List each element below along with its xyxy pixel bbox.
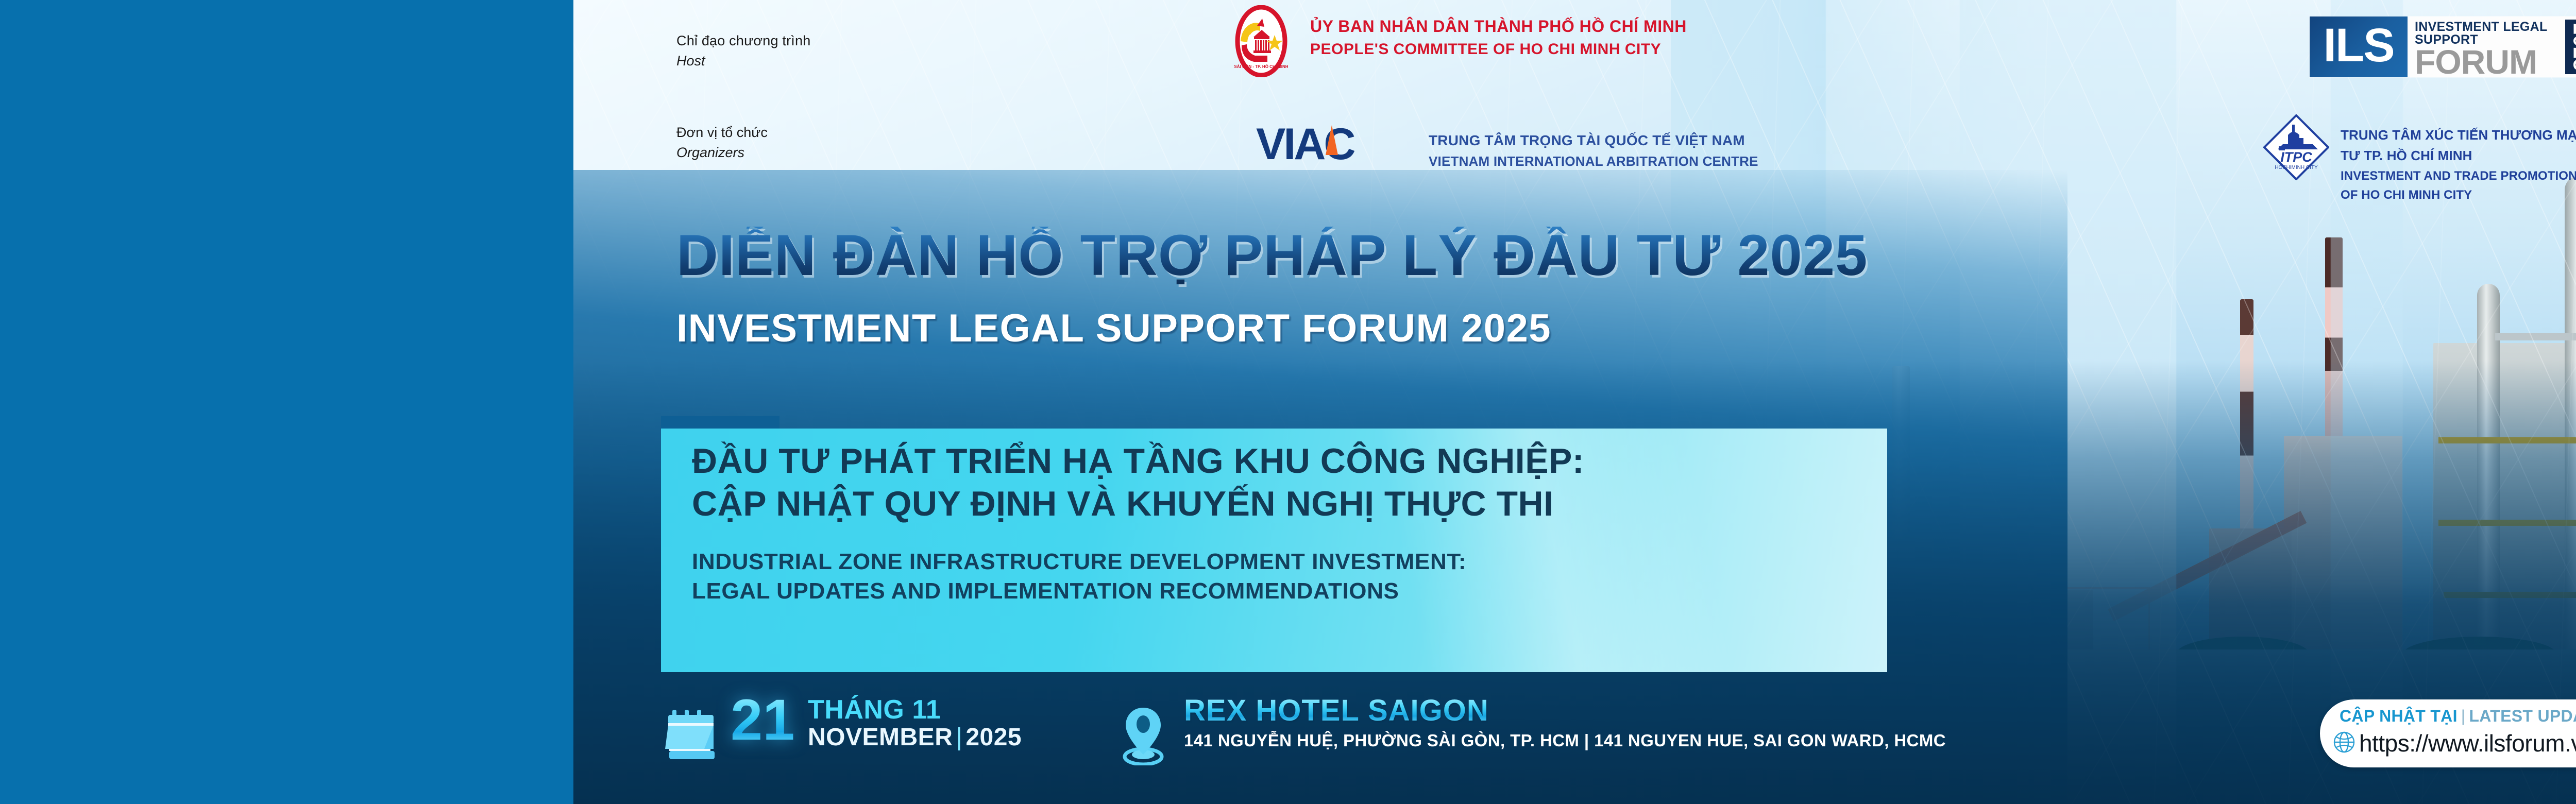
theme-accent-bar [661,416,779,430]
event-month-en: NOVEMBER [808,724,953,751]
updates-label-vn: CẬP NHẬT TẠI [2340,707,2458,725]
venue-name: REX HOTEL SAIGON [1184,694,1946,727]
ils-words: INVESTMENT LEGAL SUPPORT FORUM [2408,16,2565,77]
refinery-pipe-1 [2495,333,2576,340]
event-month-vn: THÁNG 11 [808,695,1022,724]
event-date-separator: | [953,724,965,751]
host-label-en: Host [676,51,810,71]
url-pill[interactable]: CẬP NHẬT TẠI|LATEST UPDATES ON https://w… [2320,699,2576,767]
organizers-label-vn: Đơn vị tổ chức [676,123,768,143]
theme-vn-line2: CẬP NHẬT QUY ĐỊNH VÀ KHUYẾN NGHỊ THỰC TH… [692,483,1584,525]
event-month-en-year: NOVEMBER|2025 [808,724,1022,751]
ils-bottom-line: FORUM [2415,46,2560,78]
updates-label: CẬP NHẬT TẠI|LATEST UPDATES ON [2340,707,2576,726]
itpc-logo-icon: ITPC HOCHIMINH CITY [2263,114,2329,180]
event-day: 21 [731,691,795,749]
peoples-committee-text: ỦY BAN NHÂN DÂN THÀNH PHỐ HỒ CHÍ MINH PE… [1310,14,1687,61]
globe-icon [2333,731,2355,753]
theme-vn-line1: ĐẦU TƯ PHÁT TRIỂN HẠ TẦNG KHU CÔNG NGHIỆ… [692,440,1584,483]
itpc-name-vn: TRUNG TÂM XÚC TIẾN THƯƠNG MẠI VÀ ĐẦU TƯ … [2341,125,2576,166]
viac-name-vn: TRUNG TÂM TRỌNG TÀI QUỐC TẾ VIỆT NAM [1429,130,1758,151]
banner-card: Chỉ đạo chương trình Host SÀI GÒN - TP. … [573,0,2576,804]
theme-en-line2: LEGAL UPDATES AND IMPLEMENTATION RECOMME… [692,576,1466,606]
updates-label-separator: | [2458,707,2469,725]
event-url[interactable]: https://www.ilsforum.vn [2359,729,2576,757]
event-year: 2025 [965,724,1022,751]
viac-name-en: VIETNAM INTERNATIONAL ARBITRATION CENTRE [1429,151,1758,172]
peoples-committee-seal-icon: SÀI GÒN - TP. HỒ CHÍ MINH [1225,5,1297,77]
viac-name: TRUNG TÂM TRỌNG TÀI QUỐC TẾ VIỆT NAM VIE… [1429,130,1758,172]
viac-flame-icon [1323,125,1341,155]
itpc-name-en: INVESTMENT AND TRADE PROMOTION CENTRE OF… [2341,166,2576,204]
venue-block: REX HOTEL SAIGON 141 NGUYỄN HUỆ, PHƯỜNG … [1184,694,1946,750]
event-date-text: THÁNG 11 NOVEMBER|2025 [808,695,1022,751]
theme-en-line1: INDUSTRIAL ZONE INFRASTRUCTURE DEVELOPME… [692,547,1466,576]
main-title-en: INVESTMENT LEGAL SUPPORT FORUM 2025 [676,309,1551,348]
itpc-mark: ITPC [2280,149,2312,165]
itpc-name: TRUNG TÂM XÚC TIẾN THƯƠNG MẠI VÀ ĐẦU TƯ … [2341,125,2576,204]
organizers-label-en: Organizers [676,143,768,163]
theme-en: INDUSTRIAL ZONE INFRASTRUCTURE DEVELOPME… [692,547,1466,606]
location-pin-icon [1120,706,1167,765]
updates-label-en: LATEST UPDATES ON [2469,707,2576,725]
organizers-label: Đơn vị tổ chức Organizers [676,123,768,163]
host-label-vn: Chỉ đạo chương trình [676,31,810,51]
ils-forum-logo: ILS INVESTMENT LEGAL SUPPORT FORUM 2025 [2310,16,2576,77]
pc-name-en: PEOPLE'S COMMITTEE OF HO CHI MINH CITY [1310,38,1687,61]
main-title-vn: DIỄN ĐÀN HỖ TRỢ PHÁP LÝ ĐẦU TƯ 2025 [676,227,1868,284]
seal-caption: SÀI GÒN - TP. HỒ CHÍ MINH [1234,64,1288,69]
theme-box: ĐẦU TƯ PHÁT TRIỂN HẠ TẦNG KHU CÔNG NGHIỆ… [661,429,1887,672]
venue-address: 141 NGUYỄN HUỆ, PHƯỜNG SÀI GÒN, TP. HCM … [1184,731,1946,750]
ils-mark: ILS [2310,16,2408,77]
pc-name-vn: ỦY BAN NHÂN DÂN THÀNH PHỐ HỒ CHÍ MINH [1310,14,1687,38]
banner-root: Chỉ đạo chương trình Host SÀI GÒN - TP. … [0,0,2576,804]
host-label: Chỉ đạo chương trình Host [676,31,810,71]
ils-year: 2025 [2565,20,2576,74]
theme-vn: ĐẦU TƯ PHÁT TRIỂN HẠ TẦNG KHU CÔNG NGHIỆ… [692,440,1584,525]
itpc-mark-sub: HOCHIMINH CITY [2275,165,2318,170]
calendar-icon [665,706,722,763]
